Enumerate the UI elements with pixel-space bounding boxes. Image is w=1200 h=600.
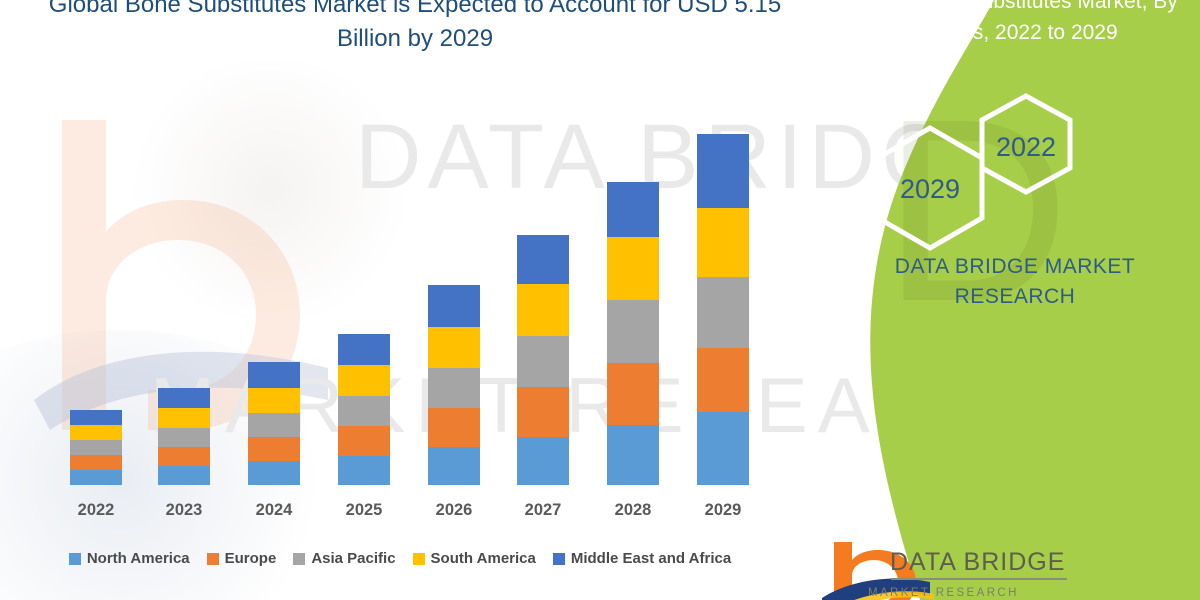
svg-text:D: D (882, 66, 1070, 356)
bar-segment (248, 461, 300, 485)
bar-group-2029 (697, 134, 749, 485)
bar-segment (248, 388, 300, 413)
bar-segment (428, 368, 480, 408)
bar-segment (517, 387, 569, 437)
bar-segment (697, 277, 749, 348)
green-panel-title: Global Bone Substitutes Market, By Regio… (842, 0, 1182, 48)
legend-item[interactable]: Asia Pacific (293, 550, 395, 567)
chart-legend: North AmericaEuropeAsia PacificSouth Ame… (0, 550, 800, 567)
bar-segment (338, 396, 390, 426)
green-panel-shape: D (780, 0, 1200, 600)
legend-item[interactable]: North America (69, 550, 190, 567)
bar-segment (697, 412, 749, 485)
x-axis-label-2023: 2023 (139, 501, 229, 520)
hexagon-2022-icon (982, 96, 1070, 192)
bar-segment (607, 300, 659, 363)
x-axis-label-2026: 2026 (409, 501, 499, 520)
company-logo-tagline: MARKET RESEARCH (868, 587, 1068, 599)
x-axis-label-2027: 2027 (498, 501, 588, 520)
bar-segment (607, 425, 659, 485)
bar-segment (428, 327, 480, 368)
bar-segment (607, 182, 659, 237)
bar-segment (517, 235, 569, 284)
bar-segment (158, 388, 210, 408)
bar-group-2026 (428, 285, 480, 485)
bar-segment (70, 440, 122, 455)
legend-item[interactable]: Europe (207, 550, 277, 567)
legend-item[interactable]: Middle East and Africa (553, 550, 731, 567)
bar-group-2027 (517, 235, 569, 485)
x-axis-label-2028: 2028 (588, 501, 678, 520)
bar-group-2025 (338, 334, 390, 485)
legend-swatch-icon (413, 553, 425, 565)
bar-segment (158, 466, 210, 485)
bar-segment (248, 362, 300, 388)
bar-segment (70, 410, 122, 425)
bar-segment (697, 208, 749, 277)
stacked-bar-chart: 20222023202420252026202720282029 (0, 0, 800, 600)
bar-segment (517, 336, 569, 387)
legend-label: Asia Pacific (311, 550, 395, 567)
bar-segment (428, 447, 480, 485)
infographic-canvas: DATA BRIDGE MARKET RESEARCH Global Bone … (0, 0, 1200, 600)
company-logo-name: DATA BRIDGE (890, 548, 1070, 577)
bar-segment (338, 365, 390, 396)
legend-label: South America (431, 550, 536, 567)
bar-segment (158, 428, 210, 447)
bar-segment (70, 470, 122, 485)
bar-segment (338, 426, 390, 456)
hexagon-group: 2022 2029 (858, 92, 1108, 252)
brand-name-text: DATA BRIDGE MARKET RESEARCH (850, 252, 1180, 312)
legend-item[interactable]: South America (413, 550, 536, 567)
company-logo-divider (891, 578, 1067, 580)
legend-label: North America (87, 550, 190, 567)
x-axis-label-2024: 2024 (229, 501, 319, 520)
legend-label: Middle East and Africa (571, 550, 731, 567)
right-green-panel: D Global Bone Substitutes Market, By Reg… (780, 0, 1200, 600)
bar-group-2023 (158, 388, 210, 485)
bar-segment (428, 285, 480, 327)
bar-segment (517, 284, 569, 336)
hexagon-2029-icon (878, 128, 982, 248)
bar-segment (70, 455, 122, 470)
x-axis-label-2022: 2022 (51, 501, 141, 520)
bar-segment (697, 348, 749, 412)
bar-segment (70, 425, 122, 440)
bar-segment (248, 413, 300, 437)
x-axis-label-2029: 2029 (678, 501, 768, 520)
bar-segment (158, 408, 210, 428)
svg-text:2029: 2029 (900, 174, 960, 204)
legend-label: Europe (225, 550, 277, 567)
bar-segment (158, 447, 210, 466)
bar-segment (517, 437, 569, 485)
bar-segment (338, 334, 390, 365)
bar-segment (697, 134, 749, 208)
bar-segment (428, 408, 480, 447)
legend-swatch-icon (553, 553, 565, 565)
bar-group-2024 (248, 362, 300, 485)
legend-swatch-icon (69, 553, 81, 565)
bar-group-2028 (607, 182, 659, 485)
bar-segment (338, 456, 390, 485)
x-axis-label-2025: 2025 (319, 501, 409, 520)
bar-segment (607, 237, 659, 300)
bar-segment (607, 363, 659, 425)
legend-swatch-icon (293, 553, 305, 565)
bar-segment (248, 437, 300, 461)
legend-swatch-icon (207, 553, 219, 565)
svg-text:2022: 2022 (996, 132, 1056, 162)
bar-group-2022 (70, 410, 122, 485)
